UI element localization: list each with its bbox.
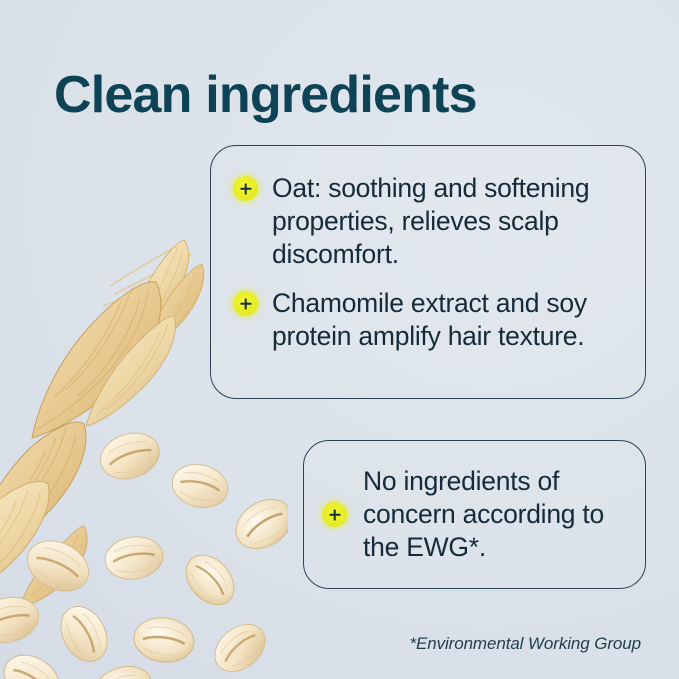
- bullet-item-chamomile: Chamomile extract and soy protein amplif…: [233, 287, 623, 353]
- footnote-text: *Environmental Working Group: [409, 634, 641, 654]
- ewg-card: No ingredients of concern according to t…: [303, 440, 646, 589]
- bullet-text-chamomile: Chamomile extract and soy protein amplif…: [272, 287, 623, 353]
- infographic-canvas: Clean ingredients Oat: soothing and soft…: [0, 0, 679, 679]
- bullet-item-ewg: No ingredients of concern according to t…: [322, 465, 627, 564]
- plus-badge-icon: [322, 502, 347, 527]
- bullet-item-oat: Oat: soothing and softening properties, …: [233, 172, 623, 271]
- plus-badge-icon: [233, 176, 258, 201]
- ingredients-card: Oat: soothing and softening properties, …: [210, 145, 646, 399]
- bullet-text-oat: Oat: soothing and softening properties, …: [272, 172, 623, 271]
- bullet-text-ewg: No ingredients of concern according to t…: [363, 465, 627, 564]
- plus-badge-icon: [233, 291, 258, 316]
- page-title: Clean ingredients: [54, 68, 477, 123]
